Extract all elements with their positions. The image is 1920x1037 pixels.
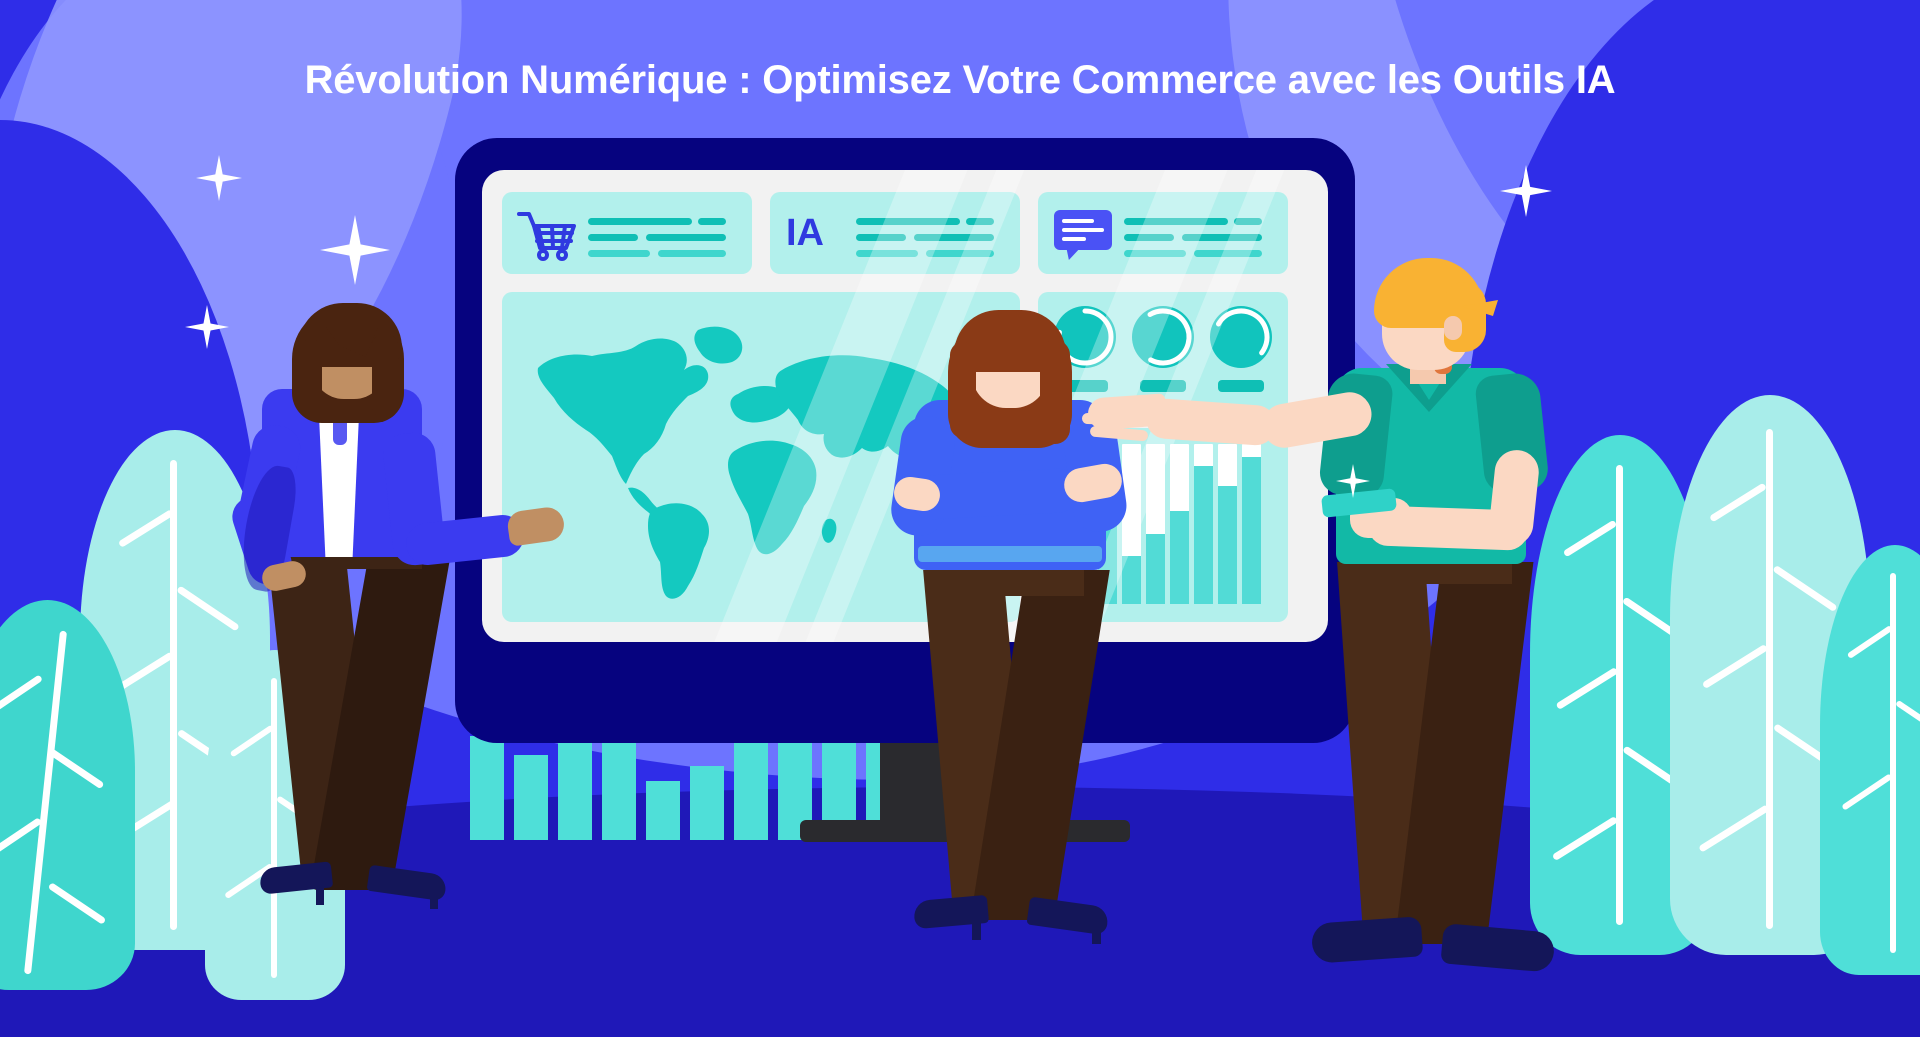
text-line xyxy=(588,218,692,225)
bar xyxy=(602,737,636,840)
shoe-heel xyxy=(972,916,981,940)
person-left xyxy=(240,305,570,995)
bar xyxy=(734,734,768,840)
leaf-icon xyxy=(1820,545,1920,975)
shoe-heel xyxy=(1092,920,1101,944)
text-line xyxy=(856,218,960,225)
leaf-icon xyxy=(0,600,135,990)
text-line xyxy=(1124,218,1228,225)
text-line xyxy=(588,250,650,257)
text-line xyxy=(588,234,638,241)
card-ecommerce[interactable] xyxy=(502,192,752,274)
illustration-canvas: IA xyxy=(0,0,1920,1037)
shoe xyxy=(1311,916,1424,964)
finger xyxy=(1082,413,1148,426)
text-line xyxy=(926,250,994,257)
shoe-heel xyxy=(430,887,438,909)
hair-strand xyxy=(300,339,322,413)
hair-strand xyxy=(950,342,976,438)
text-line xyxy=(1194,250,1262,257)
hand-right xyxy=(506,505,566,546)
shopping-cart-icon xyxy=(516,208,578,262)
page-title: Révolution Numérique : Optimisez Votre C… xyxy=(0,58,1920,103)
shoe xyxy=(1440,923,1555,973)
text-line xyxy=(1124,250,1186,257)
text-line xyxy=(966,218,994,225)
text-line xyxy=(658,250,726,257)
text-line xyxy=(1234,218,1262,225)
bar xyxy=(646,781,680,840)
text-line xyxy=(856,234,906,241)
person-right xyxy=(1200,272,1540,1002)
text-line xyxy=(646,234,726,241)
text-line xyxy=(1124,234,1174,241)
chat-bubble-icon xyxy=(1054,210,1114,260)
text-line xyxy=(914,234,994,241)
card-chat[interactable] xyxy=(1038,192,1288,274)
ia-text-icon: IA xyxy=(786,214,824,252)
card-ia[interactable]: IA xyxy=(770,192,1020,274)
hair-strand xyxy=(372,333,398,419)
sweater-hem xyxy=(918,546,1102,562)
bar xyxy=(690,766,724,840)
text-line xyxy=(698,218,726,225)
shoe-heel xyxy=(316,883,324,905)
text-line xyxy=(1182,234,1262,241)
hair-strand xyxy=(1040,340,1070,444)
ear xyxy=(1444,316,1462,340)
text-line xyxy=(856,250,918,257)
plant-right xyxy=(1520,395,1920,995)
